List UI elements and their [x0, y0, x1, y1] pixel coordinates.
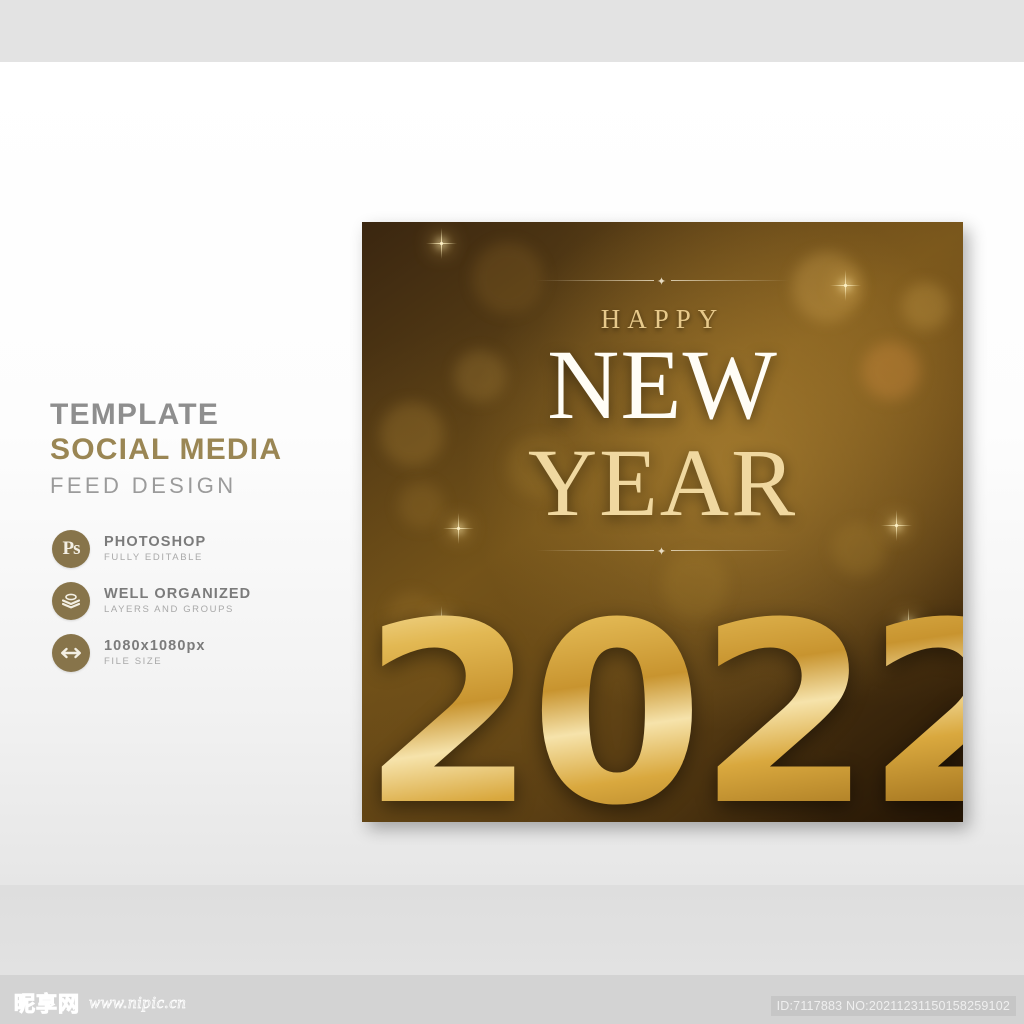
feature-title-organized: WELL ORGANIZED: [104, 586, 251, 603]
feature-item-filesize: 1080x1080px FILE SIZE: [52, 628, 342, 678]
resize-arrows-icon: [52, 634, 90, 672]
photoshop-icon-glyph: Ps: [63, 538, 80, 560]
feature-list: Ps PHOTOSHOP FULLY EDITABLE WELL ORGANIZ…: [52, 524, 342, 680]
feature-subtitle-organized: LAYERS AND GROUPS: [104, 603, 251, 616]
resize-arrows-icon-svg: [59, 645, 83, 661]
ornament-line-left: [536, 550, 654, 551]
image-id-badge: ID:7117883 NO:20211231150158259102: [771, 996, 1016, 1016]
ornament-diamond-icon: ✦: [657, 545, 668, 558]
ornament-line-left: [536, 280, 654, 281]
ornament-line-right: [671, 550, 789, 551]
layers-icon-svg: [60, 591, 82, 611]
heading-line-template: TEMPLATE: [50, 398, 340, 432]
watermark-logo-text: 昵享网: [14, 988, 80, 1018]
layers-icon: [52, 582, 90, 620]
watermark: 昵享网 www.nipic.cn: [14, 988, 186, 1018]
ornament-diamond-icon: ✦: [657, 275, 668, 288]
lower-background-band: [0, 885, 1024, 975]
poster-year-2022: 2022: [362, 590, 963, 822]
screenshot-root: TEMPLATE SOCIAL MEDIA FEED DESIGN Ps PHO…: [0, 0, 1024, 1024]
feature-title-filesize: 1080x1080px: [104, 638, 206, 655]
photoshop-icon: Ps: [52, 530, 90, 568]
ornament-divider-bottom: ✦: [362, 544, 963, 559]
heading-line-feed-design: FEED DESIGN: [50, 470, 340, 502]
ornament-line-right: [671, 280, 789, 281]
feature-subtitle-filesize: FILE SIZE: [104, 655, 206, 668]
watermark-url: www.nipic.cn: [89, 993, 186, 1013]
ornament-divider-top: ✦: [362, 274, 963, 289]
feature-text-photoshop: PHOTOSHOP FULLY EDITABLE: [104, 534, 206, 564]
poster-card: ✦ HAPPY NEW YEAR ✦ 2022: [362, 222, 963, 822]
top-background-band: [0, 0, 1024, 62]
heading-line-social-media: SOCIAL MEDIA: [50, 432, 340, 468]
feature-item-organized: WELL ORGANIZED LAYERS AND GROUPS: [52, 576, 342, 626]
poster-headline-year: YEAR: [362, 435, 963, 531]
feature-item-photoshop: Ps PHOTOSHOP FULLY EDITABLE: [52, 524, 342, 574]
feature-text-organized: WELL ORGANIZED LAYERS AND GROUPS: [104, 586, 251, 616]
feature-title-photoshop: PHOTOSHOP: [104, 534, 206, 551]
feature-text-filesize: 1080x1080px FILE SIZE: [104, 638, 206, 668]
feature-subtitle-photoshop: FULLY EDITABLE: [104, 551, 206, 564]
sparkle: [440, 242, 443, 245]
template-info-heading: TEMPLATE SOCIAL MEDIA FEED DESIGN: [50, 398, 340, 502]
poster-headline-new: NEW: [362, 335, 963, 435]
